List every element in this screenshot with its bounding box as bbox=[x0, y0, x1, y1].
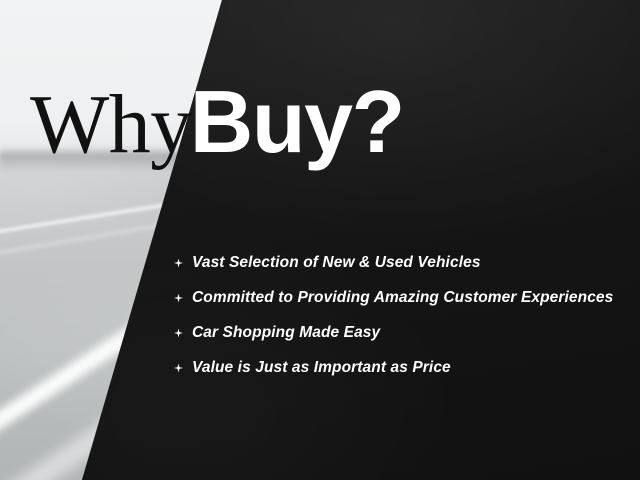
benefits-list: Vast Selection of New & Used Vehicles Co… bbox=[172, 252, 613, 379]
headline-why: Why bbox=[30, 78, 192, 171]
list-item: Value is Just as Important as Price bbox=[172, 357, 613, 379]
list-item: Car Shopping Made Easy bbox=[172, 322, 613, 344]
headline-buy: Buy? bbox=[190, 72, 404, 171]
diamond-bullet-icon bbox=[172, 257, 185, 270]
headline: WhyBuy? bbox=[30, 78, 404, 167]
list-item-label: Committed to Providing Amazing Customer … bbox=[192, 289, 613, 307]
list-item-label: Vast Selection of New & Used Vehicles bbox=[192, 254, 481, 272]
why-buy-banner: WhyBuy? Vast Selection of New & Used Veh… bbox=[0, 0, 640, 480]
list-item: Vast Selection of New & Used Vehicles bbox=[172, 252, 613, 274]
diamond-bullet-icon bbox=[172, 292, 185, 305]
list-item-label: Car Shopping Made Easy bbox=[192, 324, 380, 342]
diamond-bullet-icon bbox=[172, 327, 185, 340]
list-item: Committed to Providing Amazing Customer … bbox=[172, 287, 613, 309]
diamond-bullet-icon bbox=[172, 362, 185, 375]
list-item-label: Value is Just as Important as Price bbox=[192, 359, 451, 377]
